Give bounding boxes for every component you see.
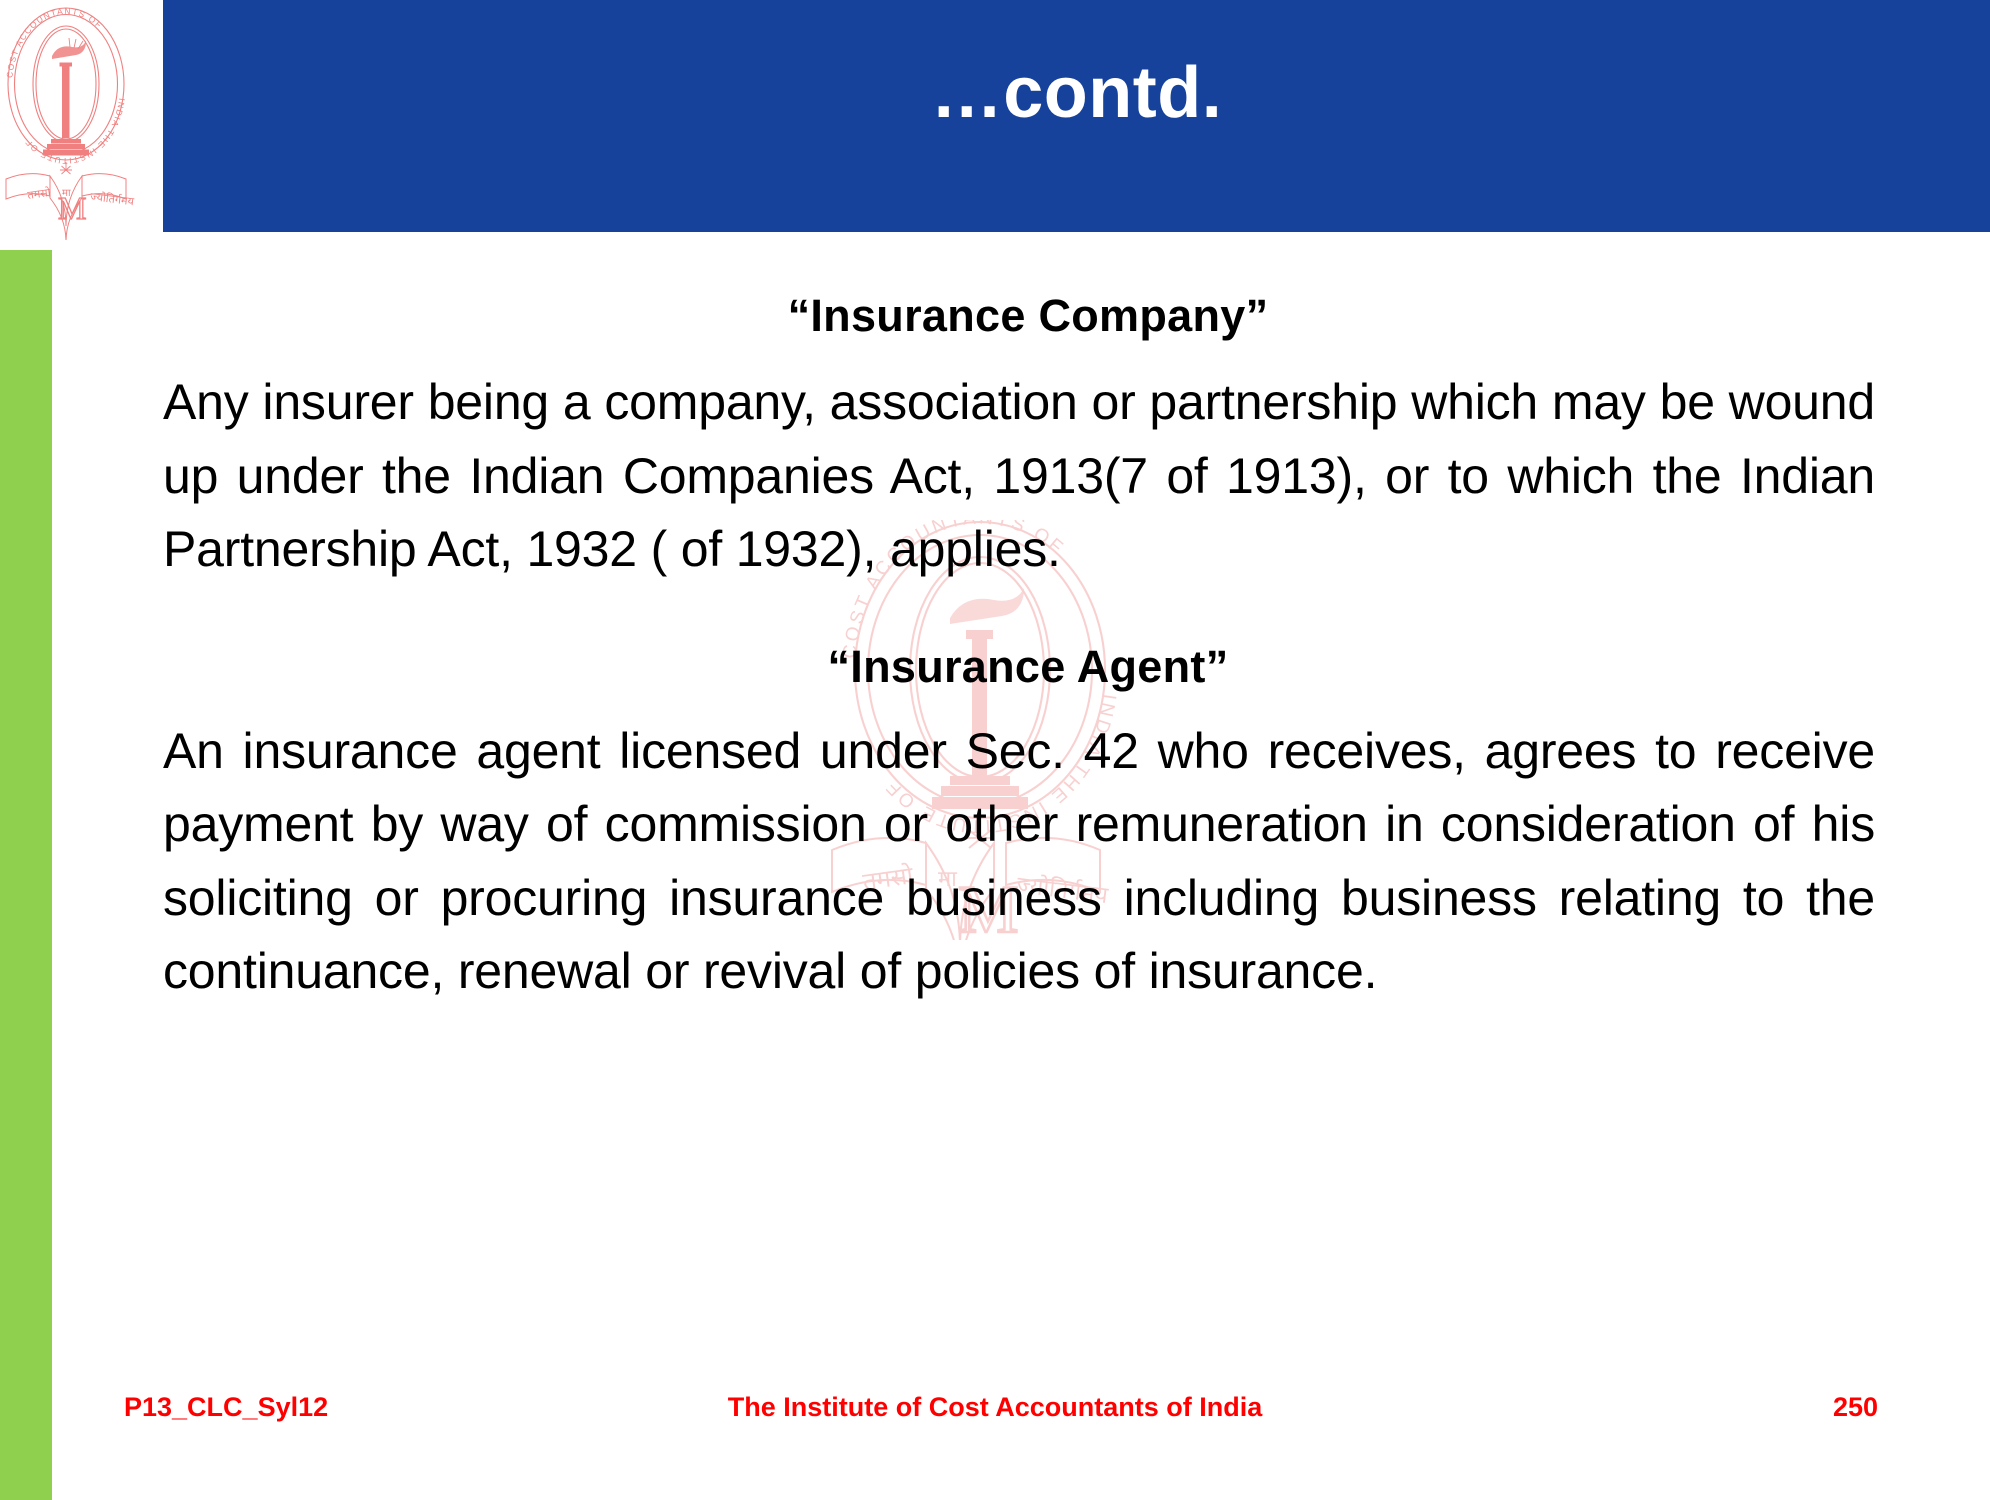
heading-insurance-agent: “Insurance Agent” bbox=[163, 641, 1893, 693]
slide-canvas: …contd. bbox=[0, 0, 1990, 1500]
svg-text:M: M bbox=[58, 190, 86, 226]
institute-logo: तमसो मा ज्योतिर्गमय M COST ACCOUNTANTS O… bbox=[4, 4, 162, 240]
slide-footer: P13_CLC_Syl12 The Institute of Cost Acco… bbox=[0, 1392, 1990, 1438]
paragraph-insurance-company: Any insurer being a company, association… bbox=[163, 366, 1893, 587]
slide-content: “Insurance Company” Any insurer being a … bbox=[163, 262, 1893, 1009]
paragraph-insurance-agent: An insurance agent licensed under Sec. 4… bbox=[163, 715, 1893, 1009]
footer-page-number: 250 bbox=[1833, 1392, 1878, 1423]
footer-institute-name: The Institute of Cost Accountants of Ind… bbox=[0, 1392, 1990, 1423]
heading-insurance-company: “Insurance Company” bbox=[163, 290, 1893, 342]
svg-text:ज्योतिर्गमय: ज्योतिर्गमय bbox=[90, 190, 136, 208]
svg-text:COST ACCOUNTANTS OF: COST ACCOUNTANTS OF bbox=[4, 6, 104, 78]
left-accent-bar bbox=[0, 250, 52, 1500]
page-title: …contd. bbox=[163, 0, 1990, 232]
svg-text:INDIA THE INSTITUTE OF: INDIA THE INSTITUTE OF bbox=[22, 98, 127, 166]
svg-text:तमसो: तमसो bbox=[27, 186, 52, 202]
